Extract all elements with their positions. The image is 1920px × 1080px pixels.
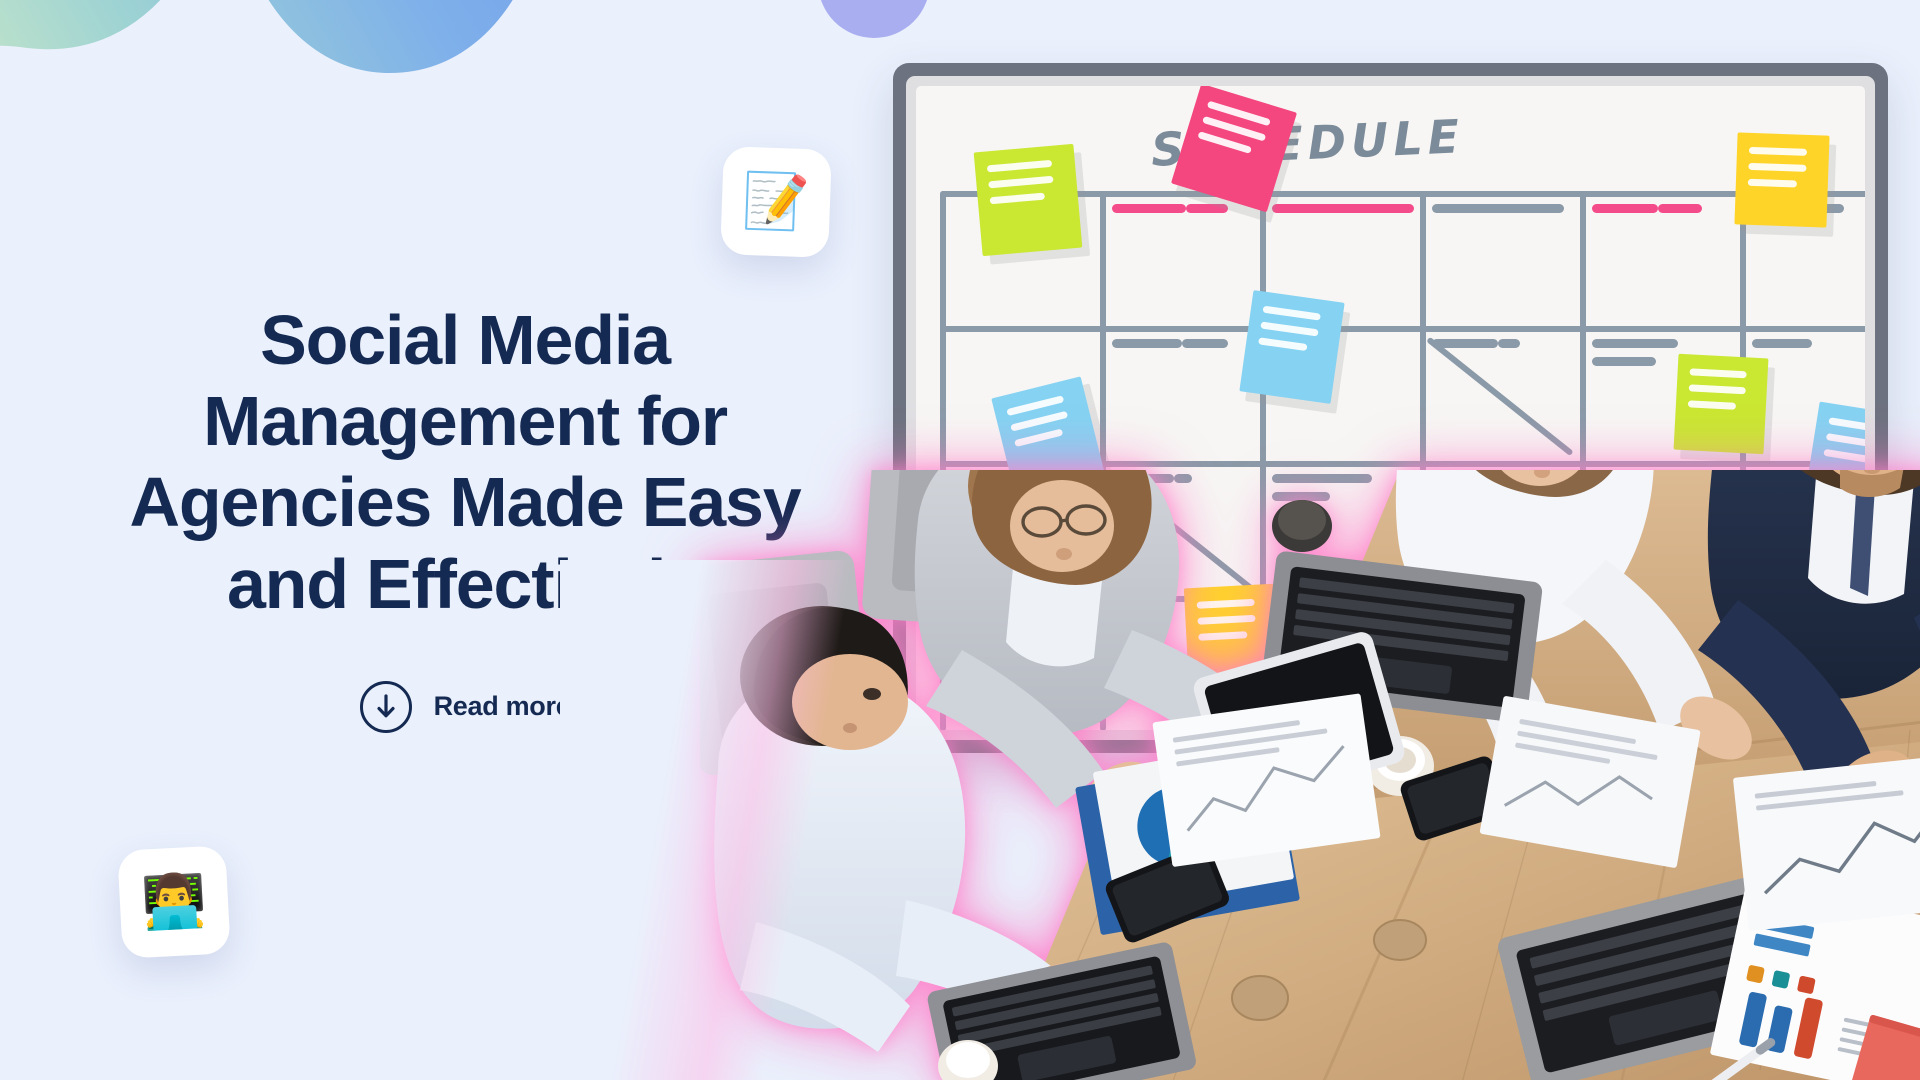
schedule-entry-bar <box>1658 204 1702 213</box>
sticky-note-line <box>1828 417 1865 433</box>
schedule-entry-bar <box>1592 357 1656 366</box>
schedule-entry-bar <box>1186 204 1228 213</box>
schedule-entry-bar <box>1112 339 1182 348</box>
sticky-note-line <box>1823 449 1865 463</box>
memo-card[interactable]: 📝 <box>720 146 832 258</box>
sticky-note-line <box>1258 337 1307 351</box>
sticky-note-line <box>1688 400 1736 409</box>
line-chart-document <box>1733 754 1920 931</box>
schedule-entry-bar <box>1112 204 1186 213</box>
hero-banner: 📝 👨‍💻 Social Media Management for Agenci… <box>0 0 1920 1080</box>
arrow-down-circle-icon <box>360 681 412 733</box>
schedule-entry-bar <box>1592 204 1658 213</box>
sticky-note-lime-2[interactable] <box>1674 354 1769 455</box>
schedule-entry-bar <box>1752 339 1812 348</box>
schedule-entry-bar <box>1272 204 1414 213</box>
headline-line-1: Social Media <box>80 300 850 381</box>
sticky-note-line <box>1263 306 1322 321</box>
sticky-note-line <box>1748 179 1797 188</box>
sticky-note-yellow-1[interactable] <box>1734 132 1829 227</box>
technologist-card[interactable]: 👨‍💻 <box>117 845 231 959</box>
gradient-swirl <box>0 0 610 200</box>
sticky-note-line <box>1749 147 1808 156</box>
schedule-entry-bar <box>1592 339 1678 348</box>
sticky-note-line <box>990 193 1045 205</box>
schedule-cell[interactable] <box>1100 191 1260 326</box>
technologist-icon: 👨‍💻 <box>140 874 207 929</box>
read-more-button[interactable]: Read more <box>360 681 571 733</box>
purple-circle <box>818 0 930 38</box>
sticky-note-line <box>1826 433 1865 449</box>
schedule-entry-bar <box>1498 339 1520 348</box>
headline-line-2: Management for <box>80 381 850 462</box>
team-meeting-photo <box>700 470 1920 1080</box>
schedule-entry-bar <box>1182 339 1228 348</box>
schedule-cell[interactable] <box>1580 191 1740 326</box>
sticky-note-lime-1[interactable] <box>974 144 1083 256</box>
sticky-note-line <box>988 176 1054 189</box>
schedule-cell[interactable] <box>1420 191 1580 326</box>
report-papers <box>1152 693 1380 867</box>
sticky-note-line <box>1689 384 1746 394</box>
read-more-label: Read more <box>434 691 571 722</box>
sticky-note-blue-1[interactable] <box>1239 290 1344 404</box>
sticky-note-line <box>1260 321 1319 336</box>
sticky-note-line <box>1689 368 1746 378</box>
coffee-cup <box>1272 500 1332 552</box>
sticky-note-line <box>1014 429 1063 448</box>
schedule-cell[interactable] <box>1100 326 1260 461</box>
sticky-note-line <box>1748 163 1807 172</box>
schedule-entry-bar <box>1432 204 1564 213</box>
sticky-note-line <box>987 160 1053 173</box>
memo-icon: 📝 <box>741 174 810 230</box>
